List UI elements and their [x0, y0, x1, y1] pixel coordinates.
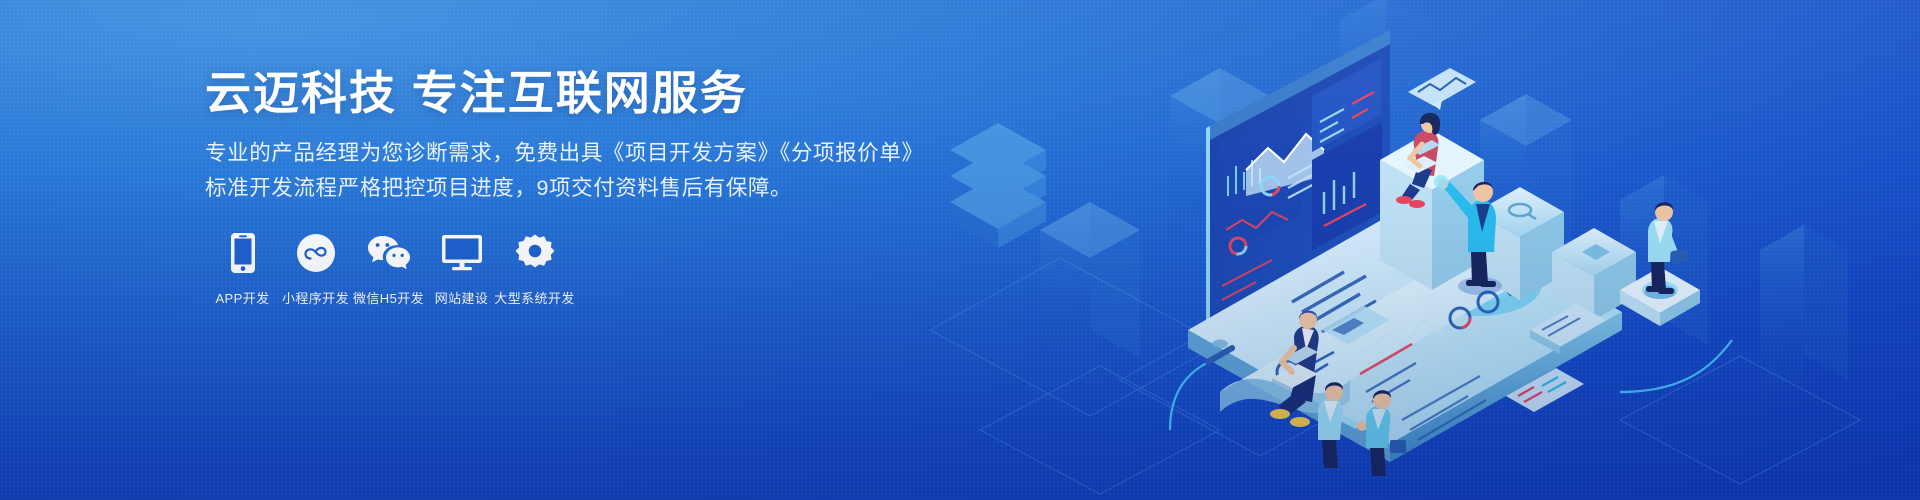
subtitle-line-1: 专业的产品经理为您诊断需求，免费出具《项目开发方案》《分项报价单》	[205, 136, 925, 171]
service-label: APP开发	[215, 288, 269, 307]
isometric-illustration	[920, 0, 1920, 500]
wechat-icon	[366, 230, 412, 276]
service-label: 大型系统开发	[494, 288, 574, 307]
service-item-mini-program[interactable]: 小程序开发	[279, 230, 352, 307]
service-item-large-system[interactable]: 大型系统开发	[498, 230, 571, 307]
illustration-container	[920, 0, 1920, 500]
monitor-icon	[441, 230, 483, 276]
banner-subtitle: 专业的产品经理为您诊断需求，免费出具《项目开发方案》《分项报价单》 标准开发流程…	[205, 136, 925, 206]
service-item-app[interactable]: APP开发	[206, 230, 279, 307]
service-list: APP开发 小程序开发 微信H5开发 网站建设	[206, 230, 571, 307]
subtitle-line-2: 标准开发流程严格把控项目进度，9项交付资料售后有保障。	[205, 171, 925, 206]
mobile-phone-icon	[230, 230, 256, 276]
service-label: 小程序开发	[282, 288, 349, 307]
mini-program-icon	[296, 230, 336, 276]
service-item-website[interactable]: 网站建设	[425, 230, 498, 307]
hero-banner: 云迈科技 专注互联网服务 专业的产品经理为您诊断需求，免费出具《项目开发方案》《…	[0, 0, 1920, 500]
service-label: 微信H5开发	[353, 288, 424, 307]
gear-icon	[515, 230, 555, 276]
page-title: 云迈科技 专注互联网服务	[205, 66, 925, 120]
service-label: 网站建设	[435, 288, 489, 307]
service-item-wechat-h5[interactable]: 微信H5开发	[352, 230, 425, 307]
banner-copy: 云迈科技 专注互联网服务 专业的产品经理为您诊断需求，免费出具《项目开发方案》《…	[205, 66, 925, 206]
